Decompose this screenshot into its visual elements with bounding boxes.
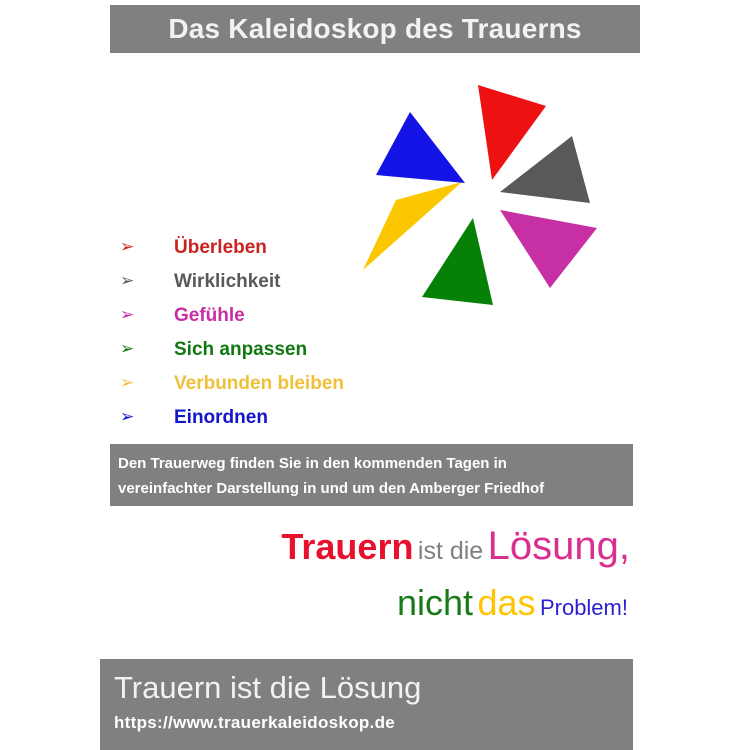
list-item: ➢ Einordnen: [112, 400, 412, 434]
info-box-line-2: vereinfachter Darstellung in und um den …: [118, 476, 625, 501]
slogan-word-das: das: [477, 582, 535, 623]
slogan-word-trauern: Trauern: [281, 526, 413, 567]
slogan-block: Trauern ist die Lösung, nicht das Proble…: [110, 524, 640, 623]
info-box-line-1: Den Trauerweg finden Sie in den kommende…: [118, 451, 625, 476]
slogan-word-problem: Problem!: [540, 595, 628, 620]
arrow-bullet-icon: ➢: [112, 375, 174, 392]
slogan-line-2: nicht das Problem!: [110, 583, 640, 623]
arrow-bullet-icon: ➢: [112, 307, 174, 324]
list-item-label: Wirklichkeit: [174, 272, 280, 291]
poster-canvas: Das Kaleidoskop des Trauerns ➢ Überleben…: [0, 0, 750, 750]
list-item-label: Gefühle: [174, 306, 245, 325]
title-banner: Das Kaleidoskop des Trauerns: [110, 5, 640, 53]
pinwheel-blade-magenta: [500, 210, 597, 288]
arrow-bullet-icon: ➢: [112, 273, 174, 290]
list-item: ➢ Sich anpassen: [112, 332, 412, 366]
info-box: Den Trauerweg finden Sie in den kommende…: [110, 444, 633, 506]
page-title: Das Kaleidoskop des Trauerns: [168, 15, 581, 43]
list-item-label: Sich anpassen: [174, 340, 307, 359]
arrow-bullet-icon: ➢: [112, 409, 174, 426]
pinwheel-blade-blue: [376, 112, 465, 183]
footer-url-link[interactable]: https://www.trauerkaleidoskop.de: [114, 709, 633, 737]
list-item: ➢ Wirklichkeit: [112, 264, 412, 298]
list-item-label: Überleben: [174, 238, 267, 257]
list-item-label: Einordnen: [174, 408, 268, 427]
footer-box: Trauern ist die Lösung https://www.traue…: [100, 659, 633, 750]
list-item: ➢ Verbunden bleiben: [112, 366, 412, 400]
phases-list: ➢ Überleben ➢ Wirklichkeit ➢ Gefühle ➢ S…: [112, 230, 412, 434]
slogan-line-1: Trauern ist die Lösung,: [110, 524, 640, 569]
pinwheel-blade-green: [422, 218, 493, 305]
slogan-word-loesung: Lösung,: [488, 524, 630, 568]
list-item: ➢ Überleben: [112, 230, 412, 264]
arrow-bullet-icon: ➢: [112, 341, 174, 358]
list-item: ➢ Gefühle: [112, 298, 412, 332]
slogan-word-ist-die: ist die: [418, 537, 483, 565]
list-item-label: Verbunden bleiben: [174, 374, 344, 393]
slogan-word-nicht: nicht: [397, 582, 473, 623]
arrow-bullet-icon: ➢: [112, 239, 174, 256]
footer-title: Trauern ist die Lösung: [114, 667, 633, 709]
